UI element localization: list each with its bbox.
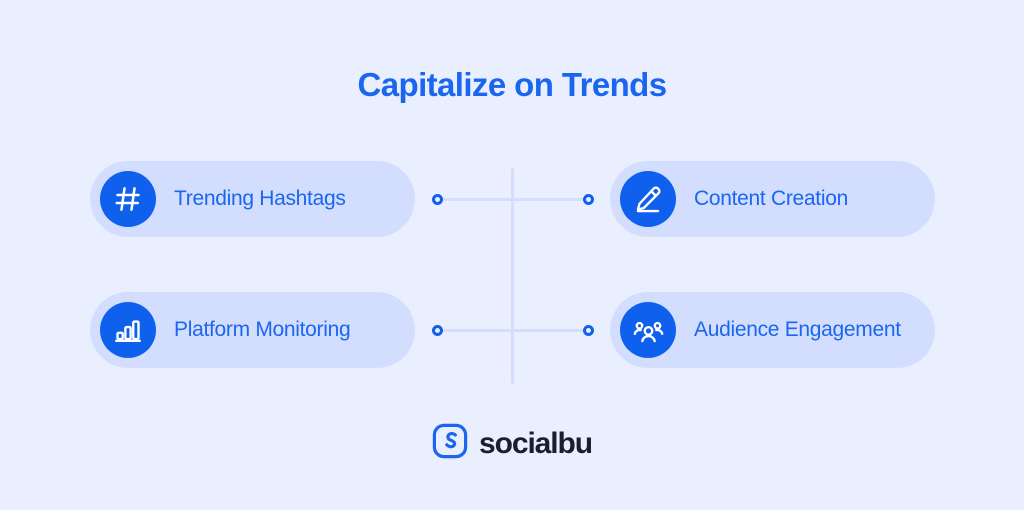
feature-card-label: Audience Engagement: [694, 318, 901, 342]
brand-logo: socialbu: [0, 423, 1024, 464]
connector-node-dot-row2-left: [432, 325, 443, 336]
connector-node-dot-row2-right: [583, 325, 594, 336]
vertical-connector-line: [511, 168, 514, 384]
page-title: Capitalize on Trends: [0, 66, 1024, 104]
pencil-icon: [620, 171, 676, 227]
bar-chart-icon: [100, 302, 156, 358]
connector-line-row2-left: [435, 329, 513, 332]
feature-card-label: Content Creation: [694, 187, 848, 211]
feature-card-label: Trending Hashtags: [174, 187, 346, 211]
brand-name: socialbu: [479, 427, 592, 461]
socialbu-logo-icon: [432, 423, 468, 464]
feature-card-content-creation[interactable]: Content Creation: [610, 161, 935, 237]
feature-card-audience-engagement[interactable]: Audience Engagement: [610, 292, 935, 368]
connector-node-dot-row1-right: [583, 194, 594, 205]
infographic-canvas: Capitalize on Trends Trending Hashtags: [0, 0, 1024, 510]
connector-line-row1-left: [435, 198, 513, 201]
connector-node-dot-row1-left: [432, 194, 443, 205]
hashtag-icon: [100, 171, 156, 227]
feature-card-platform-monitoring[interactable]: Platform Monitoring: [90, 292, 415, 368]
connector-line-row1-right: [511, 198, 589, 201]
feature-card-trending-hashtags[interactable]: Trending Hashtags: [90, 161, 415, 237]
connector-line-row2-right: [511, 329, 589, 332]
feature-card-label: Platform Monitoring: [174, 318, 350, 342]
people-icon: [620, 302, 676, 358]
